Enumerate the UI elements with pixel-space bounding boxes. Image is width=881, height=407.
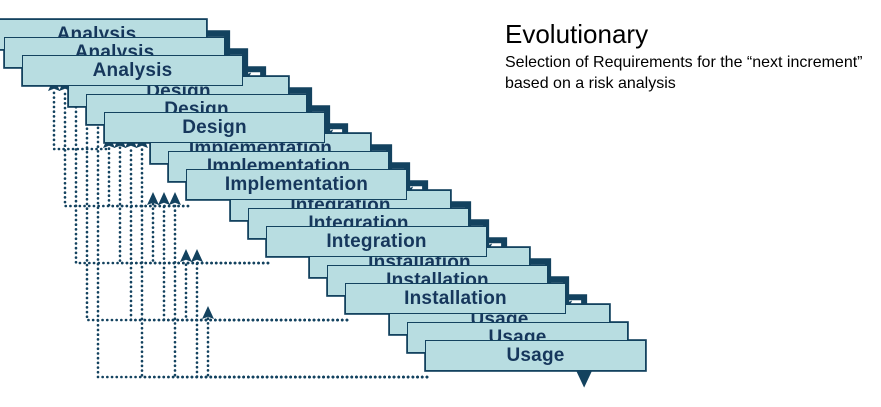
stage-label-design: Design [182,117,247,139]
stage-box-installation: Installation [345,283,566,314]
stage-box-integration: Integration [266,226,487,257]
stage-box-implementation: Implementation [186,169,407,200]
stage-label-analysis: Analysis [93,60,173,82]
stage-box-design: Design [104,112,325,143]
stage-label-implementation: Implementation [225,174,368,196]
evolutionary-waterfall-diagram: Evolutionary Selection of Requirements f… [0,0,881,407]
stage-box-analysis: Analysis [22,55,243,86]
stage-box-usage: Usage [425,340,646,371]
stage-label-installation: Installation [404,288,507,310]
stage-label-integration: Integration [326,231,426,253]
stage-label-usage: Usage [506,345,564,367]
